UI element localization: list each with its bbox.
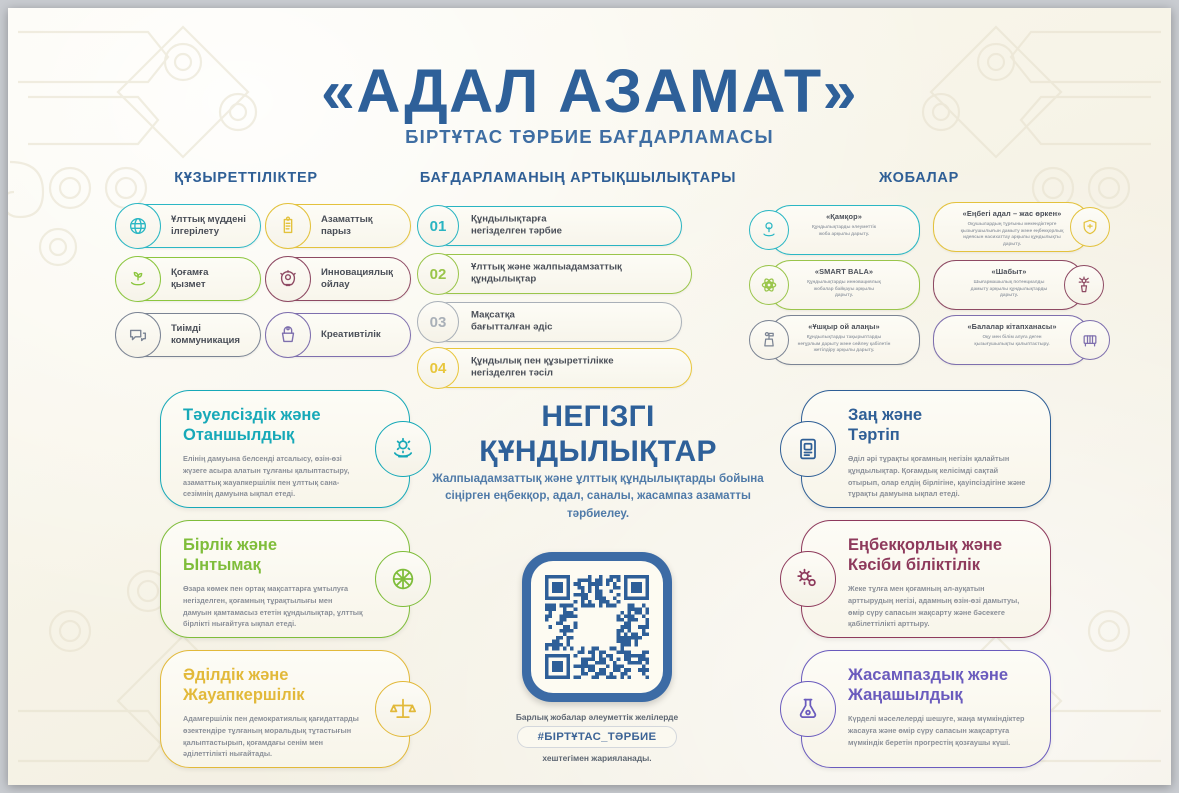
poster-canvas: «АДАЛ АЗАМАТ» БІРТҰТАС ТӘРБИЕ БАҒДАРЛАМА…: [8, 8, 1171, 785]
qr-code-icon: [545, 575, 649, 679]
hashtag-badge: #БІРТҰТАС_ТӘРБИЕ: [517, 726, 677, 748]
value-card-title: Жасампаздық жәнеЖаңашылдық: [848, 666, 1028, 706]
advantage-number: 02: [417, 253, 459, 295]
advantage-number: 03: [417, 301, 459, 343]
qr-caption-top: Барлық жобалар әлеуметтік желілерде: [462, 712, 732, 722]
project-description: Құндылықтарды тақырыптардынеғұрлым дарыт…: [775, 334, 913, 354]
advantage-label: Құндылықтарғанегізделген тәрбие: [471, 214, 673, 239]
value-card-right-2[interactable]: Еңбекқорлық жәнеКәсіби біліктілікЖеке тұ…: [801, 520, 1051, 638]
section-heading-advantages: БАҒДАРЛАМАНЫҢ АРТЫҚШЫЛЫҚТАРЫ: [380, 170, 776, 186]
hand-gear-icon: [375, 421, 431, 477]
hand-plant-icon: [115, 256, 161, 302]
competency-label: Қоғамғақызмет: [171, 267, 252, 291]
advantage-label: Ұлттық және жалпыадамзаттыққұндылықтар: [471, 262, 683, 287]
project-description: Оқу мен білім алуға дегенқызығушылықты қ…: [940, 334, 1084, 347]
handshake-document-icon: [265, 203, 311, 249]
section-heading-competencies: ҚҰЗЫРЕТТІЛІКТЕР: [96, 170, 396, 186]
qr-caption-bottom: хештегімен жарияланады.: [462, 753, 732, 763]
competency-label: Тиімдікоммуникация: [171, 323, 252, 347]
value-card-title: Еңбекқорлық жәнеКәсіби біліктілік: [848, 536, 1028, 576]
law-book-icon: [780, 421, 836, 477]
ornament-top-right: [851, 8, 1171, 302]
advantage-card-01[interactable]: 01Құндылықтарғанегізделген тәрбие: [428, 206, 682, 246]
qr-code-inner: [531, 561, 663, 693]
page-subtitle: БІРТҰТАС ТӘРБИЕ БАҒДАРЛАМАСЫ: [8, 126, 1171, 148]
project-card-1[interactable]: «Қамқор»Құндылықтарды әлеуметтікжоба арқ…: [768, 205, 920, 255]
project-description: Құндылықтарды инновациялықжобалар байқау…: [775, 279, 913, 299]
project-title: «Қамқор»: [769, 212, 919, 221]
value-card-left-2[interactable]: Бірлік жәнеЫнтымақӨзара көмек пен ортақ …: [160, 520, 410, 638]
value-card-description: Күрделі мәселелерді шешуге, жаңа мүмкінд…: [848, 713, 1028, 748]
value-card-description: Өзара көмек пен ортақ мақсаттарға ұмтылу…: [183, 583, 363, 630]
project-title: «Еңбегі адал – жас өркен»: [934, 209, 1090, 218]
project-description: Шығармашылық потенциалдыдамыту арқылы құ…: [940, 279, 1078, 299]
advantage-number: 04: [417, 347, 459, 389]
advantage-number: 01: [417, 205, 459, 247]
advantage-label: Мақсатқабағытталған әдіс: [471, 310, 673, 335]
competency-card-5[interactable]: Тиімдікоммуникация: [116, 313, 261, 357]
project-card-2[interactable]: «Еңбегі адал – жас өркен»Оқушылардың тұр…: [933, 202, 1091, 252]
project-card-6[interactable]: «Балалар кітапханасы»Оқу мен білім алуға…: [933, 315, 1091, 365]
value-card-title: Заң жәнеТәртіп: [848, 406, 1028, 446]
competency-card-3[interactable]: Қоғамғақызмет: [116, 257, 261, 301]
value-card-title: Әділдік жәнеЖауапкершілік: [183, 666, 361, 706]
competency-label: Ұлттық мүдденіілгерілету: [171, 214, 252, 238]
competency-card-6[interactable]: Креативтілік: [266, 313, 411, 357]
project-card-3[interactable]: «SMART BALA»Құндылықтарды инновациялықжо…: [768, 260, 920, 310]
value-card-title: Тәуелсіздік жәнеОтаншылдық: [183, 406, 361, 446]
project-card-5[interactable]: «Ұшқыр ой алаңы»Құндылықтарды тақырыптар…: [768, 315, 920, 365]
project-description: Құндылықтарды әлеуметтікжоба арқылы дары…: [775, 224, 913, 237]
value-card-title: Бірлік жәнеЫнтымақ: [183, 536, 361, 576]
globe-grid-icon: [375, 551, 431, 607]
scales-icon: [375, 681, 431, 737]
value-card-right-1[interactable]: Заң жәнеТәртіпӘділ әрі тұрақты қоғамның …: [801, 390, 1051, 508]
value-card-description: Жеке тұлға мен қоғамның әл-ауқатын артты…: [848, 583, 1028, 630]
project-card-4[interactable]: «Шабыт»Шығармашылық потенциалдыдамыту ар…: [933, 260, 1085, 310]
qr-code-frame[interactable]: [522, 552, 672, 702]
value-card-left-1[interactable]: Тәуелсіздік жәнеОтаншылдықЕлінің дамуына…: [160, 390, 410, 508]
competency-card-1[interactable]: Ұлттық мүдденіілгерілету: [116, 204, 261, 248]
flask-idea-icon: [780, 681, 836, 737]
advantage-card-02[interactable]: 02Ұлттық және жалпыадамзаттыққұндылықтар: [428, 254, 692, 294]
project-title: «SMART BALA»: [769, 267, 919, 276]
gears-icon: [780, 551, 836, 607]
competency-card-4[interactable]: Инновациялықойлау: [266, 257, 411, 301]
section-heading-projects: ЖОБАЛАР: [764, 170, 1074, 186]
value-card-description: Елінің дамуына белсенді атсалысу, өзін-ө…: [183, 453, 363, 500]
advantage-label: Құндылық пен құзыреттіліккенегізделген т…: [471, 356, 683, 381]
page-title: «АДАЛ АЗАМАТ»: [8, 56, 1171, 126]
core-values-title: НЕГІЗГІҚҰНДЫЛЫҚТАР: [438, 400, 758, 470]
value-card-left-3[interactable]: Әділдік жәнеЖауапкершілікАдамгершілік пе…: [160, 650, 410, 768]
project-title: «Шабыт»: [934, 267, 1084, 276]
competency-label: Азаматтықпарыз: [321, 214, 402, 238]
project-description: Оқушылардың тұрғыны мекендіктергеқызығуш…: [940, 221, 1084, 248]
core-values-description: Жалпыадамзаттық және ұлттық құндылықтард…: [432, 470, 764, 522]
value-card-description: Әділ әрі тұрақты қоғамның негізін қалайт…: [848, 453, 1028, 500]
competency-label: Инновациялықойлау: [321, 267, 402, 291]
globe-icon: [115, 203, 161, 249]
advantage-card-03[interactable]: 03Мақсатқабағытталған әдіс: [428, 302, 682, 342]
project-title: «Балалар кітапханасы»: [934, 322, 1090, 331]
competency-label: Креативтілік: [321, 329, 402, 341]
advantage-card-04[interactable]: 04Құндылық пен құзыреттіліккенегізделген…: [428, 348, 692, 388]
value-card-description: Адамгершілік пен демократиялық қағидатта…: [183, 713, 363, 760]
paint-bucket-icon: [265, 312, 311, 358]
speech-bubbles-icon: [115, 312, 161, 358]
lightbulb-head-icon: [265, 256, 311, 302]
competency-card-2[interactable]: Азаматтықпарыз: [266, 204, 411, 248]
value-card-right-3[interactable]: Жасампаздық жәнеЖаңашылдықКүрделі мәселе…: [801, 650, 1051, 768]
project-title: «Ұшқыр ой алаңы»: [769, 322, 919, 331]
